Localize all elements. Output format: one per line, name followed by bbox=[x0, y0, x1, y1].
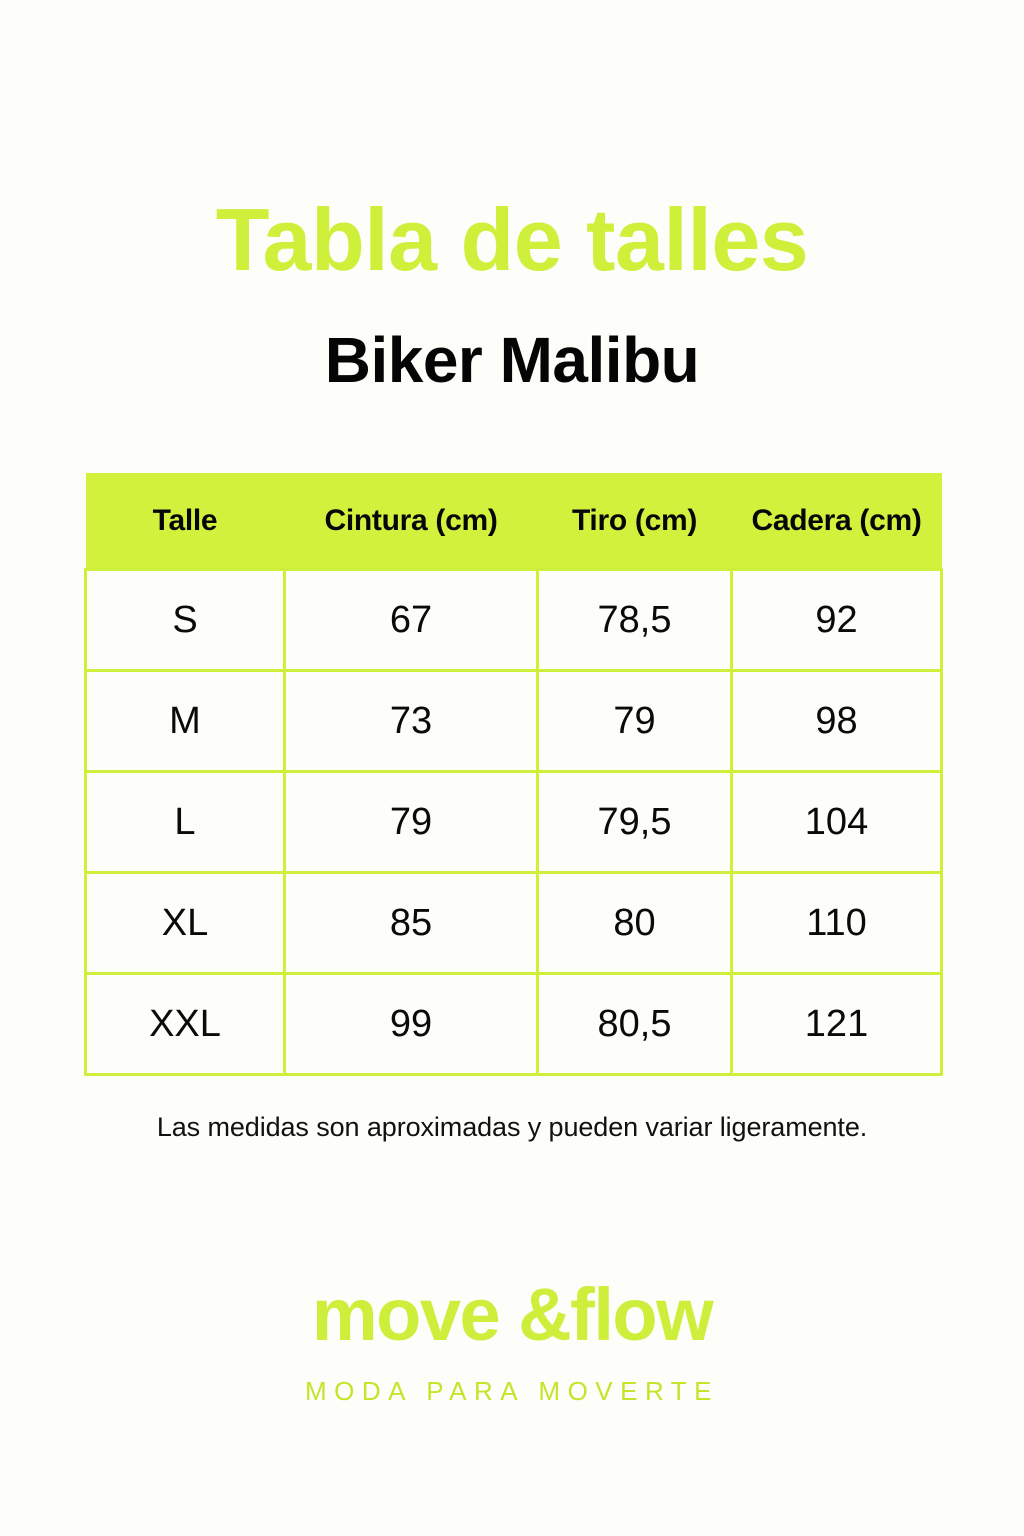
brand-name: move &flow bbox=[0, 1278, 1024, 1352]
cell-cadera: 110 bbox=[732, 873, 942, 974]
table-header-row: Talle Cintura (cm) Tiro (cm) Cadera (cm) bbox=[86, 473, 942, 570]
table-row: XXL 99 80,5 121 bbox=[86, 974, 942, 1075]
cell-tiro: 79 bbox=[538, 671, 732, 772]
cell-cadera: 121 bbox=[732, 974, 942, 1075]
table-body: S 67 78,5 92 M 73 79 98 L 79 79,5 104 bbox=[86, 570, 942, 1075]
brand-logo: move &flow MODA PARA MOVERTE bbox=[0, 1278, 1024, 1404]
cell-talle: M bbox=[86, 671, 285, 772]
table-row: L 79 79,5 104 bbox=[86, 772, 942, 873]
cell-cintura: 99 bbox=[285, 974, 538, 1075]
page-title: Tabla de talles bbox=[0, 196, 1024, 284]
size-table: Talle Cintura (cm) Tiro (cm) Cadera (cm)… bbox=[84, 473, 943, 1076]
cell-talle: XXL bbox=[86, 974, 285, 1075]
cell-cadera: 92 bbox=[732, 570, 942, 671]
measurements-disclaimer: Las medidas son aproximadas y pueden var… bbox=[0, 1112, 1024, 1143]
table-row: S 67 78,5 92 bbox=[86, 570, 942, 671]
cell-tiro: 78,5 bbox=[538, 570, 732, 671]
cell-talle: L bbox=[86, 772, 285, 873]
table-row: XL 85 80 110 bbox=[86, 873, 942, 974]
cell-talle: XL bbox=[86, 873, 285, 974]
cell-tiro: 80 bbox=[538, 873, 732, 974]
table-head: Talle Cintura (cm) Tiro (cm) Cadera (cm) bbox=[86, 473, 942, 570]
cell-cadera: 98 bbox=[732, 671, 942, 772]
cell-talle: S bbox=[86, 570, 285, 671]
cell-tiro: 80,5 bbox=[538, 974, 732, 1075]
title-block: Tabla de talles Biker Malibu bbox=[0, 196, 1024, 392]
column-header-cintura: Cintura (cm) bbox=[285, 473, 538, 570]
cell-cintura: 73 bbox=[285, 671, 538, 772]
column-header-talle: Talle bbox=[86, 473, 285, 570]
cell-cintura: 85 bbox=[285, 873, 538, 974]
size-table-container: Talle Cintura (cm) Tiro (cm) Cadera (cm)… bbox=[84, 473, 940, 1076]
cell-cintura: 67 bbox=[285, 570, 538, 671]
size-chart-page: Tabla de talles Biker Malibu Talle Cintu… bbox=[0, 0, 1024, 1536]
column-header-cadera: Cadera (cm) bbox=[732, 473, 942, 570]
column-header-tiro: Tiro (cm) bbox=[538, 473, 732, 570]
brand-tagline: MODA PARA MOVERTE bbox=[0, 1352, 1024, 1404]
product-name: Biker Malibu bbox=[0, 284, 1024, 392]
cell-tiro: 79,5 bbox=[538, 772, 732, 873]
cell-cintura: 79 bbox=[285, 772, 538, 873]
table-row: M 73 79 98 bbox=[86, 671, 942, 772]
cell-cadera: 104 bbox=[732, 772, 942, 873]
